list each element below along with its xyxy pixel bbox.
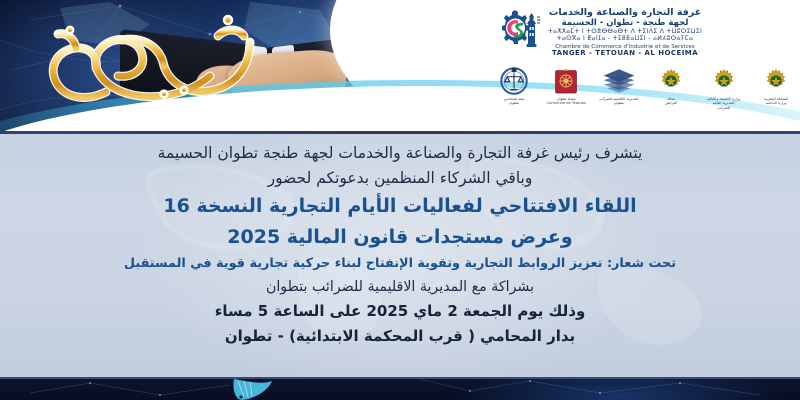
event-slogan: تحت شعار: تعزيز الروابط التجارية وتقوية … xyxy=(0,253,800,275)
partner-caption: وزارة الاقتصاد والمالية المديرية العامة … xyxy=(702,97,746,110)
royal-emblem-icon xyxy=(649,66,693,96)
event-headline-2: وعرض مستجدات قانون المالية 2025 xyxy=(0,222,800,253)
intro-line-2: وباقي الشركاء المنظمين بدعوتكم لحضور xyxy=(0,166,800,191)
footer-network-decoration xyxy=(0,377,800,400)
chamber-logo-text: غرفة التجارة والصناعة والخدمات لجهة طنجة… xyxy=(548,8,702,57)
partner-logo-item: هيئة المحامين بتطوان xyxy=(492,66,536,106)
partner-caption: المملكة المغربية وزارة الداخلية xyxy=(754,97,798,106)
calligraphy-invitation xyxy=(14,6,274,126)
event-datetime: وذلك يوم الجمعة 2 ماي 2025 على الساعة 5 … xyxy=(0,299,800,324)
partner-caption: هيئة المحامين بتطوان xyxy=(492,97,536,106)
intro-line-1: يتشرف رئيس غرفة التجارة والصناعة والخدما… xyxy=(0,141,800,166)
partner-caption: عمالة تطوان Commune de Tetouan xyxy=(544,97,588,106)
partner-caption: عمالة العرائش xyxy=(649,97,693,106)
logo-french-line-2: TANGER - TETOUAN - AL HOCEIMA xyxy=(548,50,702,58)
logo-arabic-line-2: لجهة طنجة - تطوان - الحسيمة xyxy=(548,19,702,28)
royal-emblem-icon xyxy=(754,66,798,96)
partner-logo-item: المديرية الاقليمية للضرائب بتطوان xyxy=(597,66,641,106)
logo-tifinagh-line-1: ⵜⴰⵅⵅⴰⵎⵜ ⵏ ⵜⵙⴻⴱⴱⴰⴱⵜ ⴷ ⵜⵉⵏⴷⵉ ⴷ ⵜⵡⵓⵔⵉⵡⵉⵏ xyxy=(548,29,702,36)
partner-caption: المديرية الاقليمية للضرائب بتطوان xyxy=(597,97,641,106)
invitation-text-block: يتشرف رئيس غرفة التجارة والصناعة والخدما… xyxy=(0,131,800,349)
tetouan-prefecture-icon xyxy=(544,66,588,96)
poster-body: يتشرف رئيس غرفة التجارة والصناعة والخدما… xyxy=(0,131,800,377)
partner-logo-item: عمالة العرائش xyxy=(649,66,693,106)
chamber-gear-lighthouse-icon xyxy=(496,8,542,58)
event-venue: بدار المحامي ( قرب المحكمة الابتدائية) -… xyxy=(0,324,800,349)
partner-logo-item: وزارة الاقتصاد والمالية المديرية العامة … xyxy=(702,66,746,110)
regional-directorate-icon xyxy=(597,66,641,96)
partner-logos-row: هيئة المحامين بتطوان عمالة تطوان Commune… xyxy=(492,66,798,122)
chamber-logo-block: غرفة التجارة والصناعة والخدمات لجهة طنجة… xyxy=(496,4,796,62)
invitation-poster: غرفة التجارة والصناعة والخدمات لجهة طنجة… xyxy=(0,0,800,400)
partner-logo-item: عمالة تطوان Commune de Tetouan xyxy=(544,66,588,106)
bar-association-icon xyxy=(492,66,536,96)
poster-footer xyxy=(0,377,800,400)
royal-emblem-icon xyxy=(702,66,746,96)
event-headline-1: اللقاء الافتتاحي لفعاليات الأيام التجاري… xyxy=(0,191,800,222)
partnership-note: بشراكة مع المديرية الاقليمية للضرائب بتط… xyxy=(0,275,800,299)
logo-tifinagh-line-2: ⵜⴰⵙⴳⴰ ⵏ ⵟⴰⵏⵊⴰ - ⵜⵉⵟⵟⴰⵡⵉⵏ - ⴰⵍⵃⵓⵙⴰⵢⵎⴰ xyxy=(548,36,702,43)
partner-logo-item: المملكة المغربية وزارة الداخلية xyxy=(754,66,798,106)
